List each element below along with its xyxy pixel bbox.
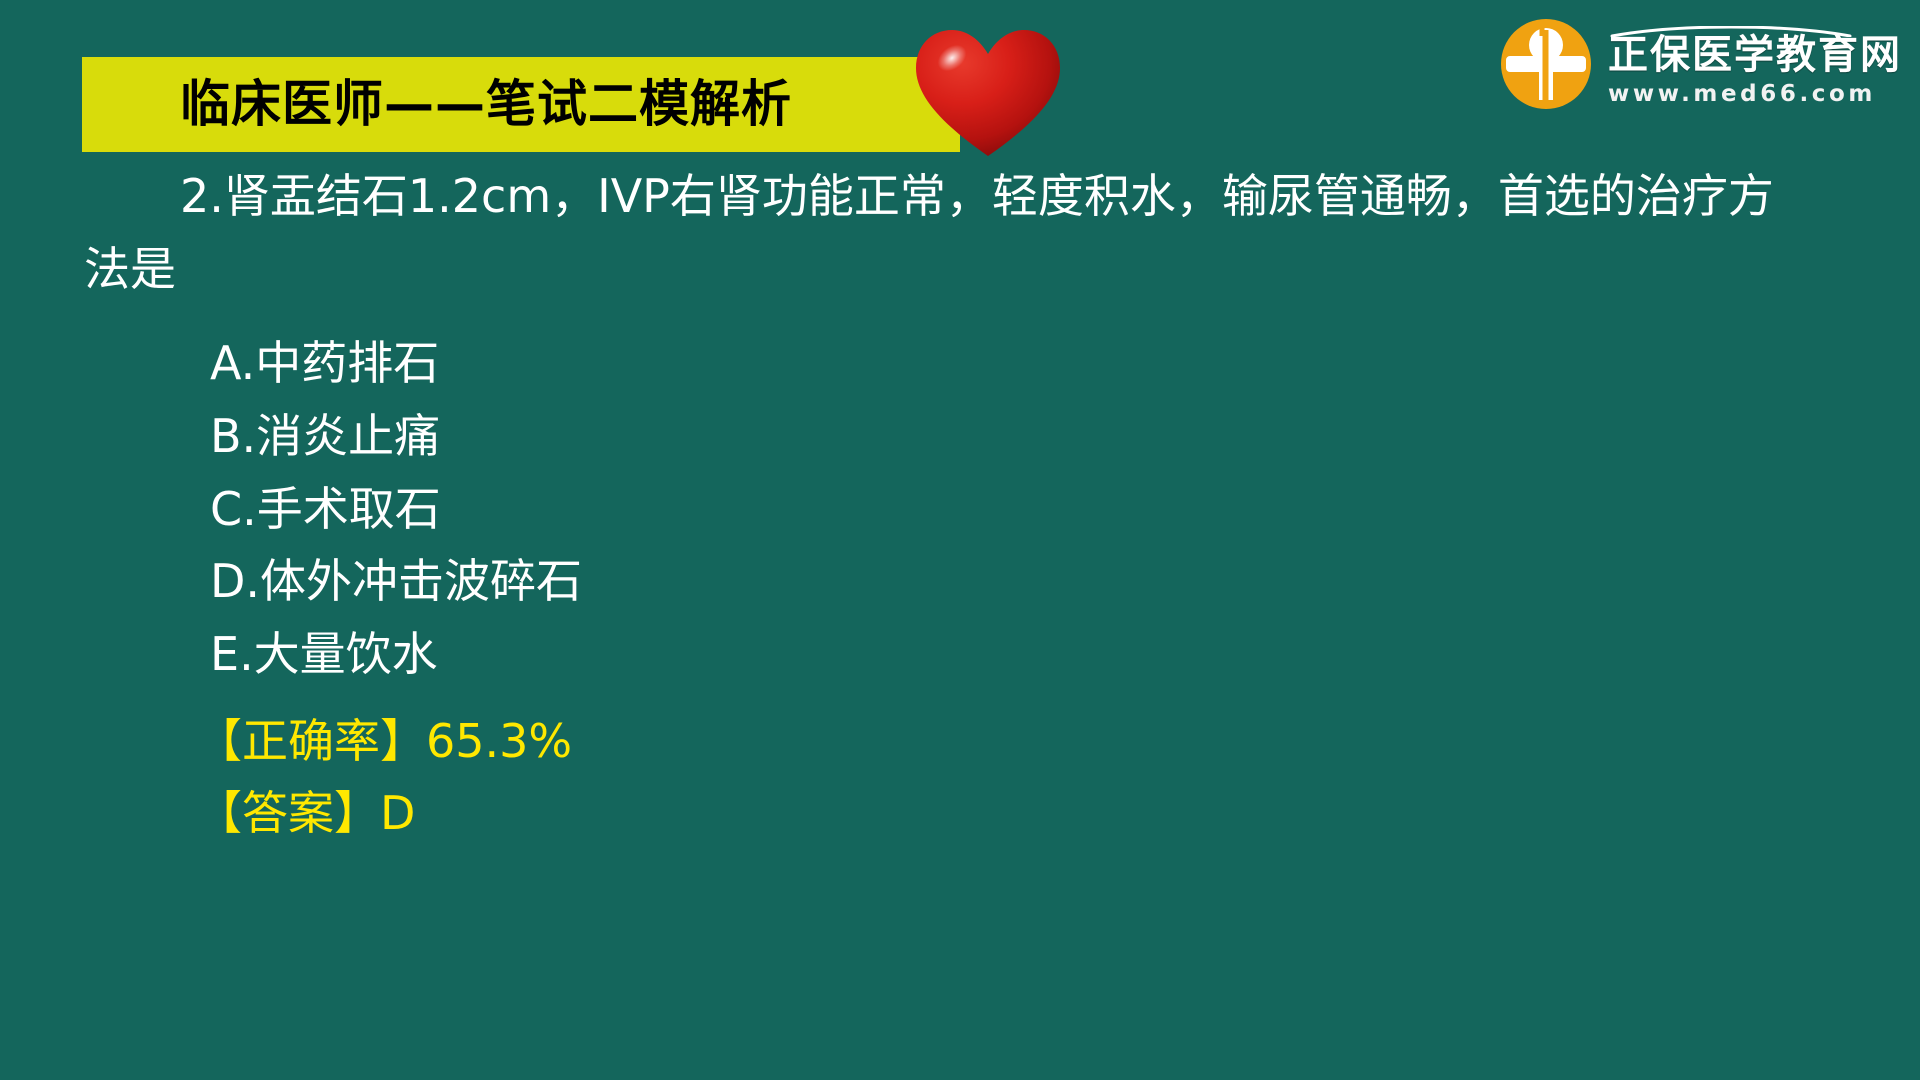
question-content: 2.肾盂结石1.2cm，IVP右肾功能正常，轻度积水，输尿管通畅，首选的治疗方法… [0, 160, 1920, 850]
logo-name-cn: 正保医学教育网 [1608, 34, 1902, 76]
option-b[interactable]: B.消炎止痛 [84, 400, 1836, 473]
title-banner: 临床医师——笔试二模解析 [82, 57, 960, 152]
medical-cross-circle-icon [1498, 16, 1594, 112]
logo-url: www.med66.com [1608, 83, 1902, 106]
question-stem: 2.肾盂结石1.2cm，IVP右肾功能正常，轻度积水，输尿管通畅，首选的治疗方法… [84, 160, 1804, 305]
brand-logo: 正保医学教育网 www.med66.com [1498, 16, 1902, 112]
option-a[interactable]: A.中药排石 [84, 327, 1836, 400]
correct-answer: 【答案】D [84, 777, 1836, 850]
option-d[interactable]: D.体外冲击波碎石 [84, 545, 1836, 618]
option-e[interactable]: E.大量饮水 [84, 618, 1836, 691]
option-c[interactable]: C.手术取石 [84, 473, 1836, 546]
page-title: 临床医师——笔试二模解析 [180, 79, 792, 129]
logo-text-block: 正保医学教育网 www.med66.com [1608, 22, 1902, 106]
heart-icon [912, 24, 1064, 160]
answer-meta: 【正确率】65.3% 【答案】D [84, 705, 1836, 850]
option-list: A.中药排石 B.消炎止痛 C.手术取石 D.体外冲击波碎石 E.大量饮水 [84, 327, 1836, 690]
accuracy-rate: 【正确率】65.3% [84, 705, 1836, 778]
slide-root: 临床医师——笔试二模解析 [0, 0, 1920, 1080]
